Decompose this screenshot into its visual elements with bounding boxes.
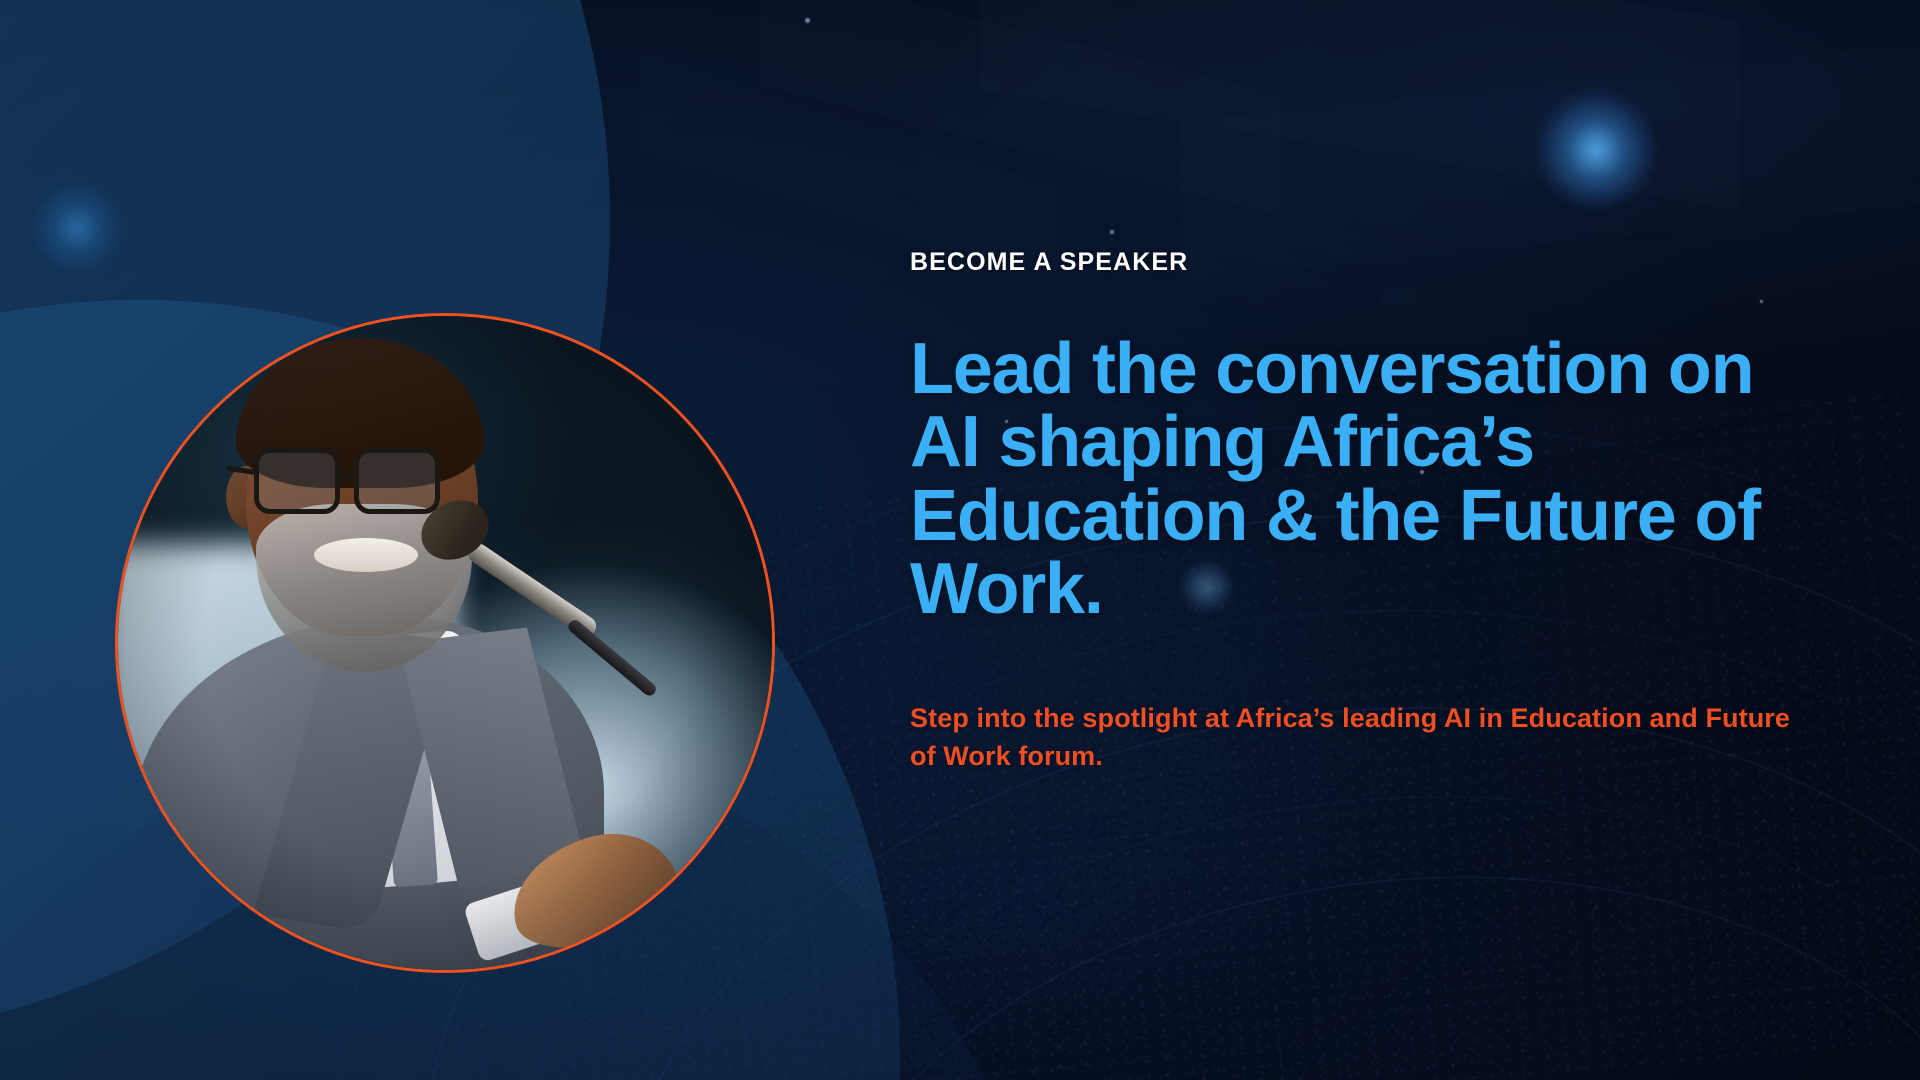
- headline-line-2: AI shaping Africa’s: [910, 406, 1840, 479]
- subheading-text: Step into the spotlight at Africa’s lead…: [910, 699, 1810, 776]
- headline-line-1: Lead the conversation on: [910, 333, 1840, 406]
- hero-text-column: BECOME A SPEAKER Lead the conversation o…: [910, 248, 1840, 775]
- page-title: Lead the conversation on AI shaping Afri…: [910, 333, 1840, 627]
- speaker-portrait: [115, 313, 775, 973]
- portrait-eyeglass-bridge: [340, 474, 354, 479]
- speaker-hero-banner: BECOME A SPEAKER Lead the conversation o…: [0, 0, 1920, 1080]
- portrait-eyeglasses: [254, 448, 340, 514]
- headline-line-4: Work.: [910, 553, 1840, 626]
- portrait-smile: [314, 538, 418, 572]
- headline-line-3: Education & the Future of: [910, 480, 1840, 553]
- portrait-eyeglasses: [354, 448, 440, 514]
- eyebrow-label: BECOME A SPEAKER: [910, 248, 1840, 277]
